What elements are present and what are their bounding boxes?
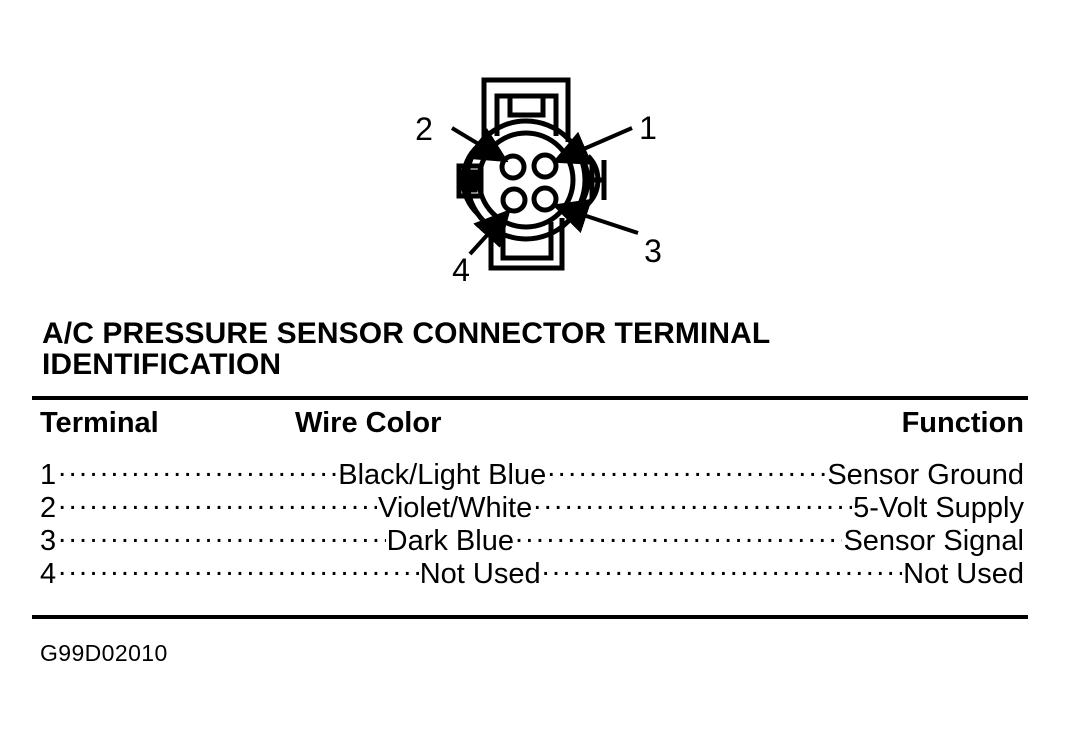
cell-terminal: 4 [40, 558, 58, 591]
cell-wire-color: Violet/White [377, 492, 533, 525]
callout-label-2: 2 [415, 111, 433, 147]
dot-leader-left [58, 517, 385, 550]
page-title-line-1: A/C PRESSURE SENSOR CONNECTOR TERMINAL [42, 318, 1032, 349]
pin-hole-3 [534, 188, 556, 210]
terminal-identification-table: Terminal Wire Color Function 1 Black/Lig… [40, 404, 1024, 583]
dot-leader-left [58, 484, 377, 517]
cell-terminal: 3 [40, 525, 58, 558]
table-bottom-rule [32, 615, 1028, 619]
cell-wire-color: Not Used [419, 558, 542, 591]
column-header-wire-color: Wire Color [295, 404, 441, 442]
connector-top-shroud-inner [497, 96, 556, 136]
dot-leader-right [547, 451, 826, 484]
callout-label-1: 1 [639, 110, 657, 146]
table-row: 4 Not Used Not Used [40, 550, 1024, 583]
callout-label-4: 4 [452, 252, 470, 288]
cell-function: Sensor Ground [826, 459, 1024, 492]
table-row: 1 Black/Light Blue Sensor Ground [40, 451, 1024, 484]
table-top-rule [32, 396, 1028, 400]
connector-figure: 2 1 3 4 [0, 0, 1066, 300]
page-title-line-2: IDENTIFICATION [42, 349, 1032, 380]
dot-leader-right [533, 484, 852, 517]
callout-label-3: 3 [644, 233, 662, 269]
pin-hole-1 [534, 155, 556, 177]
dot-leader-left [58, 550, 419, 583]
column-header-terminal: Terminal [40, 404, 159, 442]
connector-body-inner [479, 133, 573, 227]
cell-terminal: 1 [40, 459, 58, 492]
figure-reference-code: G99D02010 [40, 640, 168, 667]
dot-leader-left [58, 451, 337, 484]
table-header-row: Terminal Wire Color Function [40, 404, 1024, 442]
page-title: A/C PRESSURE SENSOR CONNECTOR TERMINAL I… [42, 318, 1032, 380]
cell-terminal: 2 [40, 492, 58, 525]
connector-right-ribs [576, 150, 604, 210]
pin-hole-4 [503, 189, 525, 211]
dot-leader-right [542, 550, 903, 583]
connector-body-outer [467, 121, 585, 239]
cell-function: Not Used [902, 558, 1024, 591]
cell-function: 5-Volt Supply [852, 492, 1024, 525]
table-body: 1 Black/Light Blue Sensor Ground 2 Viole… [40, 451, 1024, 583]
dot-leader-right [515, 517, 842, 550]
column-header-function: Function [902, 404, 1024, 442]
